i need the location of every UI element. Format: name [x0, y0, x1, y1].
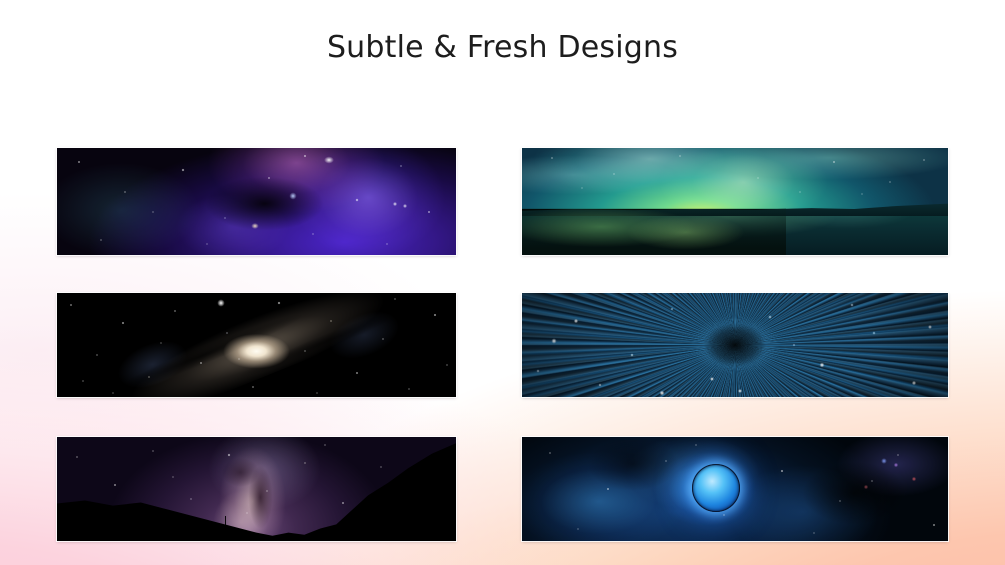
gallery-item-blue-planet-nebula[interactable]	[522, 437, 948, 541]
foreground-grass	[522, 208, 786, 255]
gallery-item-aurora-lake[interactable]	[522, 148, 948, 255]
blue-planet-art	[522, 437, 948, 541]
gallery-item-purple-nebula[interactable]	[57, 148, 456, 255]
aurora-stars	[522, 148, 948, 204]
slide-title: Subtle & Fresh Designs	[0, 30, 1005, 65]
aurora-lake-art	[522, 148, 948, 255]
andromeda-art	[57, 293, 456, 397]
purple-nebula-art	[57, 148, 456, 255]
colored-star-accents	[522, 437, 948, 541]
nebula-bright-stars	[57, 148, 456, 255]
gallery-item-milky-way-ridge[interactable]	[57, 437, 456, 541]
image-gallery-grid	[57, 148, 948, 541]
hyperspace-art	[522, 293, 948, 397]
slide-canvas: Subtle & Fresh Designs	[0, 0, 1005, 565]
galaxy-bright-star	[57, 293, 456, 397]
milky-way-art	[57, 437, 456, 541]
warp-vignette	[522, 293, 948, 397]
gallery-item-andromeda-galaxy[interactable]	[57, 293, 456, 397]
gallery-item-hyperspace-warp[interactable]	[522, 293, 948, 397]
antenna-pole	[225, 516, 226, 533]
